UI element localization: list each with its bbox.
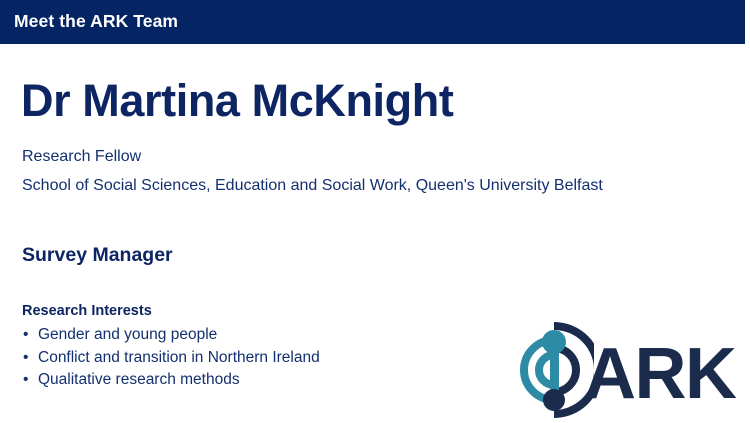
slide: Meet the ARK Team Dr Martina McKnight Re… (0, 0, 750, 422)
ark-logo: ARK (508, 322, 744, 418)
bullet-icon: • (23, 347, 28, 370)
bullet-icon: • (23, 369, 28, 392)
list-item-label: Conflict and transition in Northern Irel… (38, 349, 320, 366)
list-item-label: Qualitative research methods (38, 371, 240, 388)
ark-wordmark: ARK (584, 338, 736, 410)
list-item: • Qualitative research methods (22, 369, 320, 392)
bullet-icon: • (23, 324, 28, 347)
person-name: Dr Martina McKnight (21, 74, 453, 128)
position-title: Survey Manager (22, 242, 173, 268)
research-interests-list: • Gender and young people • Conflict and… (22, 324, 320, 392)
research-interests-heading: Research Interests (22, 302, 152, 321)
header-banner: Meet the ARK Team (0, 0, 750, 44)
slide-body: Dr Martina McKnight Research Fellow Scho… (0, 44, 750, 422)
person-role: Research Fellow (22, 146, 141, 168)
list-item: • Conflict and transition in Northern Ir… (22, 347, 320, 370)
list-item: • Gender and young people (22, 324, 320, 347)
person-affiliation: School of Social Sciences, Education and… (22, 175, 603, 197)
header-title: Meet the ARK Team (14, 9, 178, 33)
ark-signal-icon (508, 322, 594, 418)
list-item-label: Gender and young people (38, 326, 217, 343)
